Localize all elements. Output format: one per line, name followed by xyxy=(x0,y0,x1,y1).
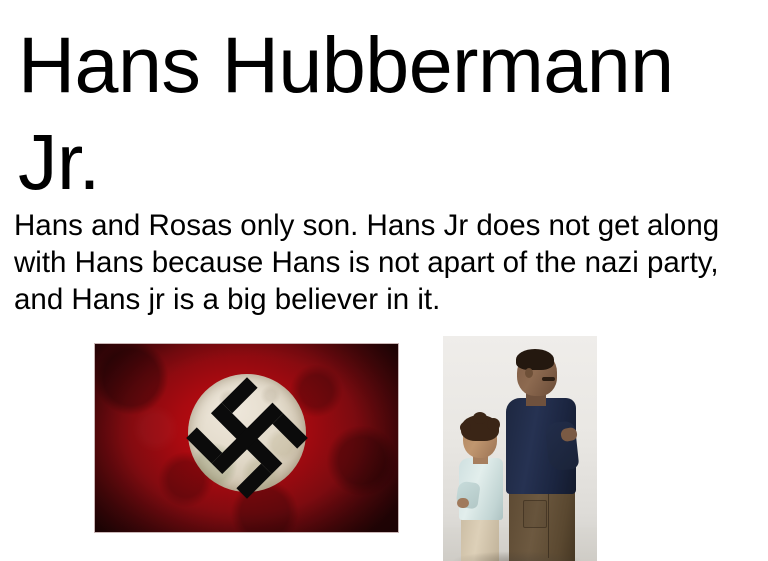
man-hair xyxy=(516,349,554,370)
nazi-flag-image xyxy=(94,343,399,533)
father-and-son-photo xyxy=(443,336,597,561)
man-pocket xyxy=(523,500,547,528)
slide-body-text: Hans and Rosas only son. Hans Jr does no… xyxy=(14,207,744,318)
man-mustache xyxy=(542,377,555,381)
man-trouser-seam xyxy=(548,492,549,558)
boy-hair-curl xyxy=(460,422,471,433)
man-ear xyxy=(525,368,533,378)
boy-hair-curl xyxy=(473,412,487,424)
boy-hand xyxy=(457,498,469,508)
page-title: Hans Hubbermann Jr. xyxy=(18,16,758,210)
photo-ground-shadow xyxy=(451,551,583,561)
slide: Hans Hubbermann Jr. Hans and Rosas only … xyxy=(0,0,768,561)
man-trousers xyxy=(509,486,575,561)
boy-hair-curl xyxy=(487,418,500,431)
